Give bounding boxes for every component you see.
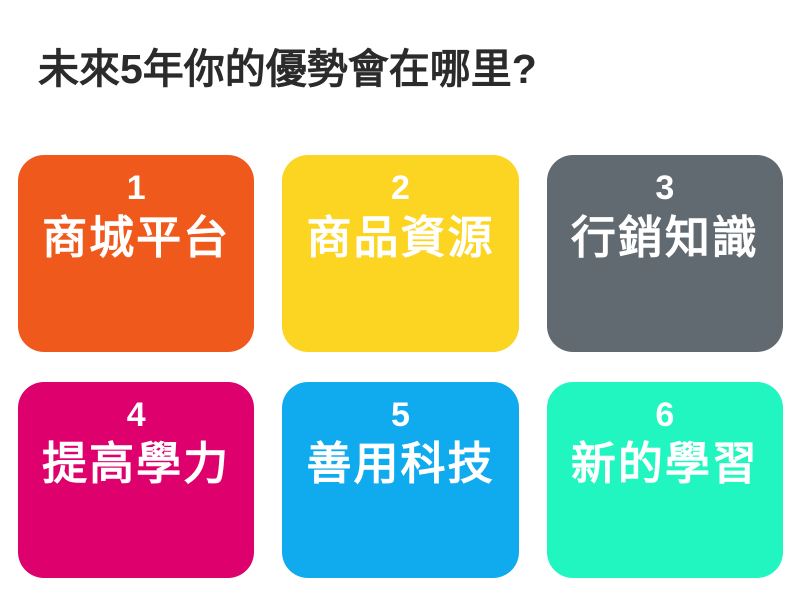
card-4-number: 4: [127, 398, 146, 434]
card-5-number: 5: [391, 398, 410, 434]
card-3-marketing-knowledge[interactable]: 3 行銷知識: [547, 155, 783, 352]
card-grid: 1 商城平台 2 商品資源 3 行銷知識 4 提高學力 5 善用科技 6 新的學…: [18, 155, 783, 578]
card-1-shopping-platform[interactable]: 1 商城平台: [18, 155, 254, 352]
card-2-label: 商品資源: [306, 213, 494, 263]
page-title: 未來5年你的優勢會在哪里?: [38, 40, 768, 98]
card-3-label: 行銷知識: [571, 213, 759, 263]
card-6-number: 6: [655, 398, 674, 434]
card-5-use-technology[interactable]: 5 善用科技: [282, 382, 518, 579]
card-6-new-learning[interactable]: 6 新的學習: [547, 382, 783, 579]
card-2-product-resources[interactable]: 2 商品資源: [282, 155, 518, 352]
card-1-number: 1: [127, 171, 146, 207]
card-6-label: 新的學習: [571, 439, 759, 489]
card-4-label: 提高學力: [42, 439, 230, 489]
card-4-improve-learning-ability[interactable]: 4 提高學力: [18, 382, 254, 579]
card-2-number: 2: [391, 171, 410, 207]
card-1-label: 商城平台: [42, 213, 230, 263]
card-3-number: 3: [655, 171, 674, 207]
card-5-label: 善用科技: [306, 439, 494, 489]
slide-canvas: 未來5年你的優勢會在哪里? 1 商城平台 2 商品資源 3 行銷知識 4 提高學…: [0, 0, 800, 608]
